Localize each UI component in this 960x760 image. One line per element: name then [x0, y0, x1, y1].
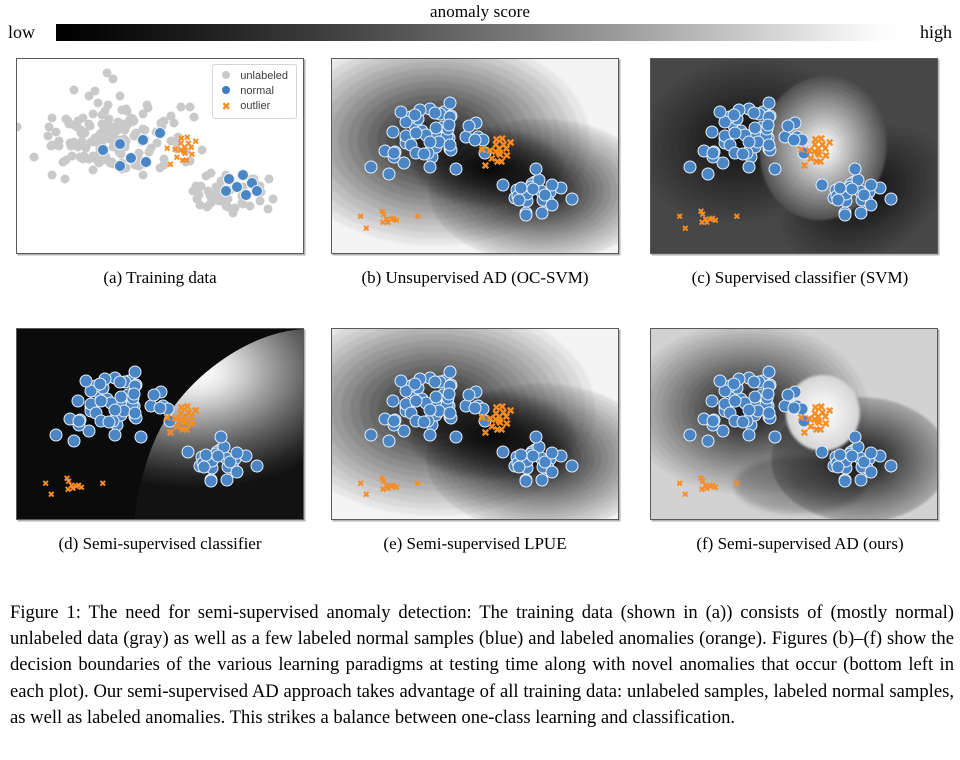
outlier-point: ✖ — [393, 217, 401, 226]
normal-point — [815, 445, 828, 458]
normal-point — [430, 121, 443, 134]
figure-caption: Figure 1: The need for semi-supervised a… — [10, 600, 954, 731]
normal-point — [240, 189, 252, 201]
unlabeled-point — [93, 99, 102, 108]
normal-point — [749, 121, 762, 134]
normal-point — [763, 97, 776, 110]
outlier-point: ✖ — [800, 160, 809, 171]
panel-f-caption: (f) Semi-supervised AD (ours) — [650, 534, 950, 554]
unlabeled-point — [177, 103, 186, 112]
unlabeled-point — [156, 163, 165, 172]
colorbar-gradient — [56, 24, 902, 41]
unlabeled-point — [70, 85, 79, 94]
normal-point — [109, 428, 122, 441]
legend-label-unlabeled: unlabeled — [240, 69, 288, 84]
normal-point — [129, 407, 142, 420]
normal-point — [114, 160, 126, 172]
normal-point — [565, 192, 578, 205]
panel-d-points: ✖✖✖✖✖✖✖✖✖✖✖✖✖✖✖✖✖✖✖✖✖✖✖✖✖✖✖✖ — [17, 329, 303, 519]
normal-point — [736, 148, 749, 161]
normal-point — [512, 460, 525, 473]
unlabeled-point — [139, 170, 148, 179]
normal-point — [429, 376, 442, 389]
outlier-point: ✖ — [183, 158, 191, 167]
normal-point — [388, 147, 401, 160]
normal-point — [382, 167, 395, 180]
normal-point — [423, 403, 436, 416]
unlabeled-point — [191, 182, 200, 191]
normal-point — [838, 208, 851, 221]
outlier-point: ✖ — [491, 408, 500, 419]
legend: unlabeled normal ✖ outlier — [212, 64, 297, 119]
normal-point — [409, 126, 422, 139]
unlabeled-point — [104, 100, 113, 109]
outlier-point: ✖ — [180, 149, 188, 158]
unlabeled-point — [139, 110, 148, 119]
normal-point — [496, 178, 509, 191]
normal-point — [409, 395, 422, 408]
normal-point — [417, 416, 430, 429]
normal-point — [387, 126, 400, 139]
panel-e: ✖✖✖✖✖✖✖✖✖✖✖✖✖✖✖✖✖✖✖✖✖✖✖✖✖✖✖✖ (e) Semi-su… — [331, 328, 621, 554]
normal-point — [707, 147, 720, 160]
normal-point — [102, 416, 115, 429]
normal-point — [463, 120, 476, 133]
normal-point — [742, 135, 755, 148]
normal-point — [444, 366, 457, 379]
normal-point — [212, 450, 225, 463]
normal-point — [444, 407, 457, 420]
outlier-point: ✖ — [733, 214, 741, 223]
normal-point — [714, 106, 727, 119]
normal-point — [125, 152, 137, 164]
unlabeled-point — [264, 175, 273, 184]
outlier-point: ✖ — [163, 145, 171, 154]
outlier-point: ✖ — [676, 480, 684, 489]
outlier-point: ✖ — [378, 209, 386, 218]
outlier-point: ✖ — [712, 484, 720, 493]
unlabeled-point — [85, 154, 94, 163]
normal-point — [514, 448, 527, 461]
normal-point — [519, 475, 532, 488]
normal-point — [128, 387, 141, 400]
normal-point — [527, 183, 540, 196]
normal-point — [395, 375, 408, 388]
normal-point — [387, 394, 400, 407]
unlabeled-point — [29, 152, 38, 161]
unlabeled-point — [70, 138, 79, 147]
normal-point — [701, 435, 714, 448]
unlabeled-point — [85, 92, 94, 101]
normal-point — [72, 394, 85, 407]
outlier-point: ✖ — [357, 480, 365, 489]
normal-point — [449, 163, 462, 176]
normal-point — [762, 119, 775, 132]
normal-point — [838, 475, 851, 488]
outlier-point: ✖ — [378, 476, 386, 485]
normal-point — [429, 107, 442, 120]
outlier-point: ✖ — [393, 484, 401, 493]
panel-d: ✖✖✖✖✖✖✖✖✖✖✖✖✖✖✖✖✖✖✖✖✖✖✖✖✖✖✖✖ (d) Semi-su… — [16, 328, 306, 554]
unlabeled-point — [263, 204, 272, 213]
unlabeled-point — [170, 119, 179, 128]
panel-a-plot: ✖✖✖✖✖✖✖✖✖✖✖✖✖✖✖✖✖ unlabeled normal ✖ o — [16, 58, 304, 254]
normal-point — [782, 389, 795, 402]
normal-point — [763, 366, 776, 379]
normal-point — [707, 415, 720, 428]
normal-point — [706, 126, 719, 139]
normal-point — [417, 148, 430, 161]
outlier-point: ✖ — [481, 428, 490, 439]
normal-point — [762, 387, 775, 400]
normal-point — [748, 376, 761, 389]
legend-label-outlier: outlier — [240, 99, 270, 114]
unlabeled-point — [75, 152, 84, 161]
normal-point — [94, 395, 107, 408]
normal-point — [140, 156, 152, 168]
colorbar-low-label: low — [8, 22, 35, 43]
outlier-point: ✖ — [810, 408, 819, 419]
panel-c: ✖✖✖✖✖✖✖✖✖✖✖✖✖✖✖✖✖✖✖✖✖✖✖✖✖✖✖✖ (c) Supervi… — [650, 58, 940, 288]
panel-e-caption: (e) Semi-supervised LPUE — [331, 534, 619, 554]
normal-point — [748, 107, 761, 120]
unlabeled-point — [47, 171, 56, 180]
unlabeled-point — [190, 113, 199, 122]
normal-point — [395, 106, 408, 119]
unlabeled-point — [256, 196, 265, 205]
unlabeled-point — [61, 174, 70, 183]
normal-point — [529, 163, 542, 176]
outlier-point: ✖ — [821, 144, 830, 155]
figure-row-top: ✖✖✖✖✖✖✖✖✖✖✖✖✖✖✖✖✖ unlabeled normal ✖ o — [0, 58, 960, 328]
outlier-point: ✖ — [188, 145, 196, 154]
unlabeled-point — [91, 133, 100, 142]
panel-e-plot: ✖✖✖✖✖✖✖✖✖✖✖✖✖✖✖✖✖✖✖✖✖✖✖✖✖✖✖✖ — [331, 328, 619, 520]
panel-f: ✖✖✖✖✖✖✖✖✖✖✖✖✖✖✖✖✖✖✖✖✖✖✖✖✖✖✖✖ (f) Semi-su… — [650, 328, 940, 554]
panel-c-plot: ✖✖✖✖✖✖✖✖✖✖✖✖✖✖✖✖✖✖✖✖✖✖✖✖✖✖✖✖ — [650, 58, 938, 254]
normal-point — [519, 208, 532, 221]
outlier-point: ✖ — [697, 209, 705, 218]
normal-point — [514, 181, 527, 194]
normal-point — [545, 179, 558, 192]
normal-point — [73, 415, 86, 428]
normal-point — [763, 139, 776, 152]
normal-point — [230, 446, 243, 459]
normal-point — [444, 97, 457, 110]
normal-point — [93, 377, 106, 390]
normal-point — [728, 395, 741, 408]
legend-item-unlabeled: unlabeled — [219, 69, 288, 84]
colorbar-title: anomaly score — [0, 2, 960, 22]
unlabeled-point — [138, 125, 147, 134]
outlier-point: ✖ — [177, 141, 185, 150]
outlier-point: ✖ — [363, 492, 371, 501]
normal-point — [129, 366, 142, 379]
normal-point — [220, 185, 232, 197]
normal-point — [833, 448, 846, 461]
unlabeled-point — [185, 103, 194, 112]
normal-point — [855, 206, 868, 219]
outlier-point: ✖ — [166, 428, 175, 439]
normal-point — [49, 428, 62, 441]
outlier-point: ✖ — [502, 144, 511, 155]
normal-point — [527, 450, 540, 463]
normal-point — [444, 139, 457, 152]
panel-b-points: ✖✖✖✖✖✖✖✖✖✖✖✖✖✖✖✖✖✖✖✖✖✖✖✖✖✖✖✖ — [332, 59, 618, 253]
normal-point — [197, 460, 210, 473]
normal-point — [408, 377, 421, 390]
normal-point — [815, 178, 828, 191]
normal-point — [204, 475, 217, 488]
normal-point — [424, 160, 437, 173]
normal-point — [884, 459, 897, 472]
outlier-point: ✖ — [99, 480, 107, 489]
unlabeled-point — [61, 156, 70, 165]
normal-point — [137, 134, 149, 146]
outlier-point: ✖ — [676, 214, 684, 223]
normal-point — [443, 119, 456, 132]
unlabeled-point — [115, 91, 124, 100]
normal-point — [496, 445, 509, 458]
outlier-point: ✖ — [682, 225, 690, 234]
normal-point — [763, 407, 776, 420]
outlier-point: ✖ — [810, 140, 819, 151]
panel-b-caption: (b) Unsupervised AD (OC-SVM) — [331, 268, 619, 288]
outlier-point: ✖ — [502, 412, 511, 423]
normal-point — [545, 446, 558, 459]
unlabeled-point — [193, 195, 202, 204]
outlier-point: ✖ — [712, 217, 720, 226]
normal-point — [430, 390, 443, 403]
normal-point — [855, 473, 868, 486]
outlier-point: ✖ — [414, 480, 422, 489]
normal-point — [736, 416, 749, 429]
figure-row-bottom: ✖✖✖✖✖✖✖✖✖✖✖✖✖✖✖✖✖✖✖✖✖✖✖✖✖✖✖✖ (d) Semi-su… — [0, 328, 960, 598]
panel-f-plot: ✖✖✖✖✖✖✖✖✖✖✖✖✖✖✖✖✖✖✖✖✖✖✖✖✖✖✖✖ — [650, 328, 938, 520]
normal-point — [536, 473, 549, 486]
legend-item-outlier: ✖ outlier — [219, 99, 288, 114]
normal-point — [443, 387, 456, 400]
unlabeled-point — [81, 144, 90, 153]
normal-point — [114, 138, 126, 150]
outlier-point: ✖ — [176, 408, 185, 419]
unlabeled-point — [268, 194, 277, 203]
normal-point — [683, 428, 696, 441]
panel-f-points: ✖✖✖✖✖✖✖✖✖✖✖✖✖✖✖✖✖✖✖✖✖✖✖✖✖✖✖✖ — [651, 329, 937, 519]
unlabeled-point — [123, 120, 132, 129]
outlier-point: ✖ — [42, 480, 50, 489]
normal-point — [463, 389, 476, 402]
normal-point — [768, 163, 781, 176]
normal-point — [250, 459, 263, 472]
normal-point — [115, 390, 128, 403]
outlier-point: ✖ — [48, 492, 56, 501]
normal-point — [742, 403, 755, 416]
normal-point — [831, 193, 844, 206]
normal-point — [846, 450, 859, 463]
normal-point — [848, 163, 861, 176]
unlabeled-point — [16, 123, 22, 132]
normal-point — [864, 179, 877, 192]
outlier-marker-icon: ✖ — [219, 99, 233, 114]
normal-point — [424, 428, 437, 441]
normal-point — [148, 389, 161, 402]
normal-point — [728, 126, 741, 139]
figure-grid: ✖✖✖✖✖✖✖✖✖✖✖✖✖✖✖✖✖ unlabeled normal ✖ o — [0, 58, 960, 598]
normal-point — [884, 192, 897, 205]
outlier-point: ✖ — [78, 484, 86, 493]
normal-point — [846, 183, 859, 196]
unlabeled-point — [89, 166, 98, 175]
figure-page: anomaly score low high ✖✖✖✖✖✖✖✖✖✖✖✖✖✖✖✖✖… — [0, 0, 960, 760]
normal-point — [701, 167, 714, 180]
panel-d-plot: ✖✖✖✖✖✖✖✖✖✖✖✖✖✖✖✖✖✖✖✖✖✖✖✖✖✖✖✖ — [16, 328, 304, 520]
unlabeled-point — [106, 127, 115, 136]
unlabeled-marker-icon — [219, 69, 233, 84]
unlabeled-point — [206, 169, 215, 178]
normal-marker-icon — [219, 84, 233, 99]
normal-point — [833, 181, 846, 194]
outlier-point: ✖ — [800, 428, 809, 439]
normal-point — [449, 431, 462, 444]
unlabeled-point — [117, 150, 126, 159]
normal-point — [114, 376, 127, 389]
normal-point — [181, 445, 194, 458]
outlier-point: ✖ — [414, 214, 422, 223]
normal-point — [251, 185, 263, 197]
normal-point — [67, 435, 80, 448]
unlabeled-point — [51, 127, 60, 136]
outlier-point: ✖ — [63, 476, 71, 485]
normal-point — [848, 430, 861, 443]
normal-point — [727, 377, 740, 390]
normal-point — [108, 403, 121, 416]
panel-b: ✖✖✖✖✖✖✖✖✖✖✖✖✖✖✖✖✖✖✖✖✖✖✖✖✖✖✖✖ (b) Unsuper… — [331, 58, 621, 288]
outlier-point: ✖ — [821, 412, 830, 423]
unlabeled-point — [73, 122, 82, 131]
normal-point — [382, 435, 395, 448]
normal-point — [749, 390, 762, 403]
panel-a: ✖✖✖✖✖✖✖✖✖✖✖✖✖✖✖✖✖ unlabeled normal ✖ o — [16, 58, 306, 288]
colorbar-region: anomaly score low high — [0, 0, 960, 52]
unlabeled-point — [48, 113, 57, 122]
normal-point — [831, 460, 844, 473]
normal-point — [364, 161, 377, 174]
legend-item-normal: normal — [219, 84, 288, 99]
outlier-point: ✖ — [491, 140, 500, 151]
panel-d-caption: (d) Semi-supervised classifier — [16, 534, 304, 554]
normal-point — [536, 206, 549, 219]
outlier-point: ✖ — [187, 412, 196, 423]
normal-point — [683, 161, 696, 174]
normal-point — [199, 448, 212, 461]
normal-point — [134, 431, 147, 444]
unlabeled-point — [103, 69, 112, 78]
panel-a-caption: (a) Training data — [16, 268, 304, 288]
outlier-point: ✖ — [481, 160, 490, 171]
normal-point — [221, 473, 234, 486]
normal-point — [706, 394, 719, 407]
normal-point — [214, 430, 227, 443]
normal-point — [529, 430, 542, 443]
outlier-point: ✖ — [697, 476, 705, 485]
normal-point — [408, 108, 421, 121]
normal-point — [714, 375, 727, 388]
unlabeled-point — [228, 208, 237, 217]
outlier-point: ✖ — [682, 492, 690, 501]
unlabeled-point — [117, 105, 126, 114]
outlier-point: ✖ — [167, 161, 175, 170]
unlabeled-point — [88, 109, 97, 118]
normal-point — [388, 415, 401, 428]
unlabeled-point — [55, 141, 64, 150]
panel-e-points: ✖✖✖✖✖✖✖✖✖✖✖✖✖✖✖✖✖✖✖✖✖✖✖✖✖✖✖✖ — [332, 329, 618, 519]
normal-point — [727, 108, 740, 121]
unlabeled-point — [207, 198, 216, 207]
normal-point — [565, 459, 578, 472]
outlier-point: ✖ — [363, 225, 371, 234]
normal-point — [743, 160, 756, 173]
normal-point — [364, 428, 377, 441]
normal-point — [423, 135, 436, 148]
normal-point — [80, 375, 93, 388]
legend-label-normal: normal — [240, 84, 274, 99]
colorbar-high-label: high — [920, 22, 952, 43]
unlabeled-point — [147, 144, 156, 153]
normal-point — [782, 120, 795, 133]
normal-point — [512, 193, 525, 206]
panel-c-points: ✖✖✖✖✖✖✖✖✖✖✖✖✖✖✖✖✖✖✖✖✖✖✖✖✖✖✖✖ — [651, 59, 937, 253]
normal-point — [864, 446, 877, 459]
outlier-point: ✖ — [357, 214, 365, 223]
unlabeled-point — [143, 100, 152, 109]
normal-point — [97, 144, 109, 156]
panel-b-plot: ✖✖✖✖✖✖✖✖✖✖✖✖✖✖✖✖✖✖✖✖✖✖✖✖✖✖✖✖ — [331, 58, 619, 254]
outlier-point: ✖ — [733, 480, 741, 489]
panel-c-caption: (c) Supervised classifier (SVM) — [650, 268, 950, 288]
normal-point — [768, 431, 781, 444]
normal-point — [154, 127, 166, 139]
normal-point — [743, 428, 756, 441]
